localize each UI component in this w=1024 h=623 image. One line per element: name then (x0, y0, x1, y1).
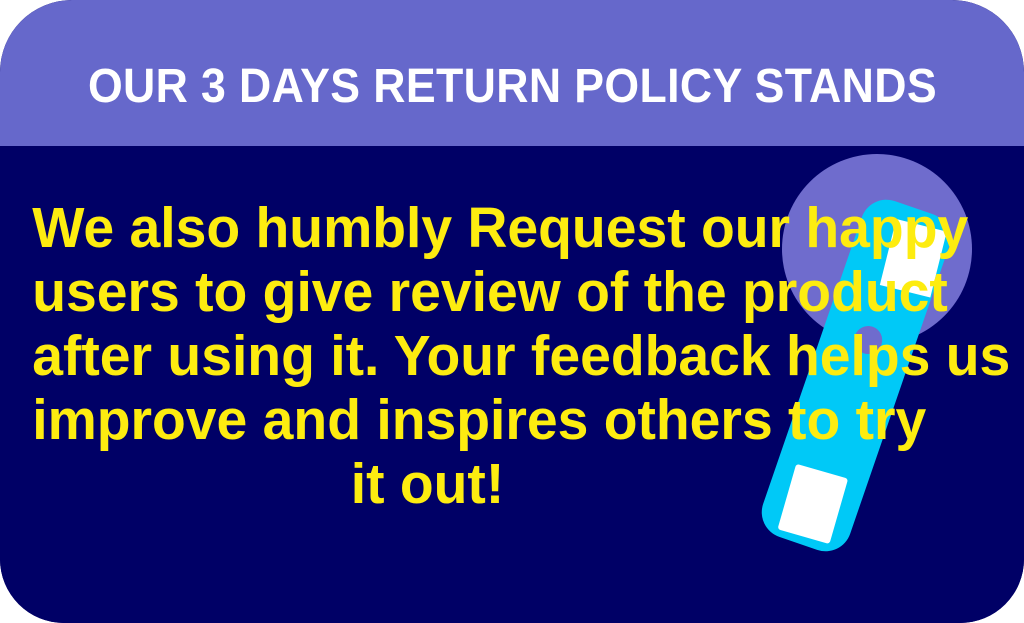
message-line-2: users to give review of the product (32, 260, 823, 324)
promo-banner: OUR 3 DAYS RETURN POLICY STANDS We also … (0, 0, 1024, 623)
banner-header-bar: OUR 3 DAYS RETURN POLICY STANDS (0, 0, 1024, 146)
message-line-3: after using it. Your feedback helps us (32, 324, 823, 388)
page-title: OUR 3 DAYS RETURN POLICY STANDS (87, 63, 936, 111)
message-line-4: improve and inspires others to try (32, 388, 823, 452)
banner-message: We also humbly Request our happy users t… (32, 196, 823, 516)
message-line-5: it out! (32, 452, 823, 516)
message-line-1: We also humbly Request our happy (32, 196, 823, 260)
